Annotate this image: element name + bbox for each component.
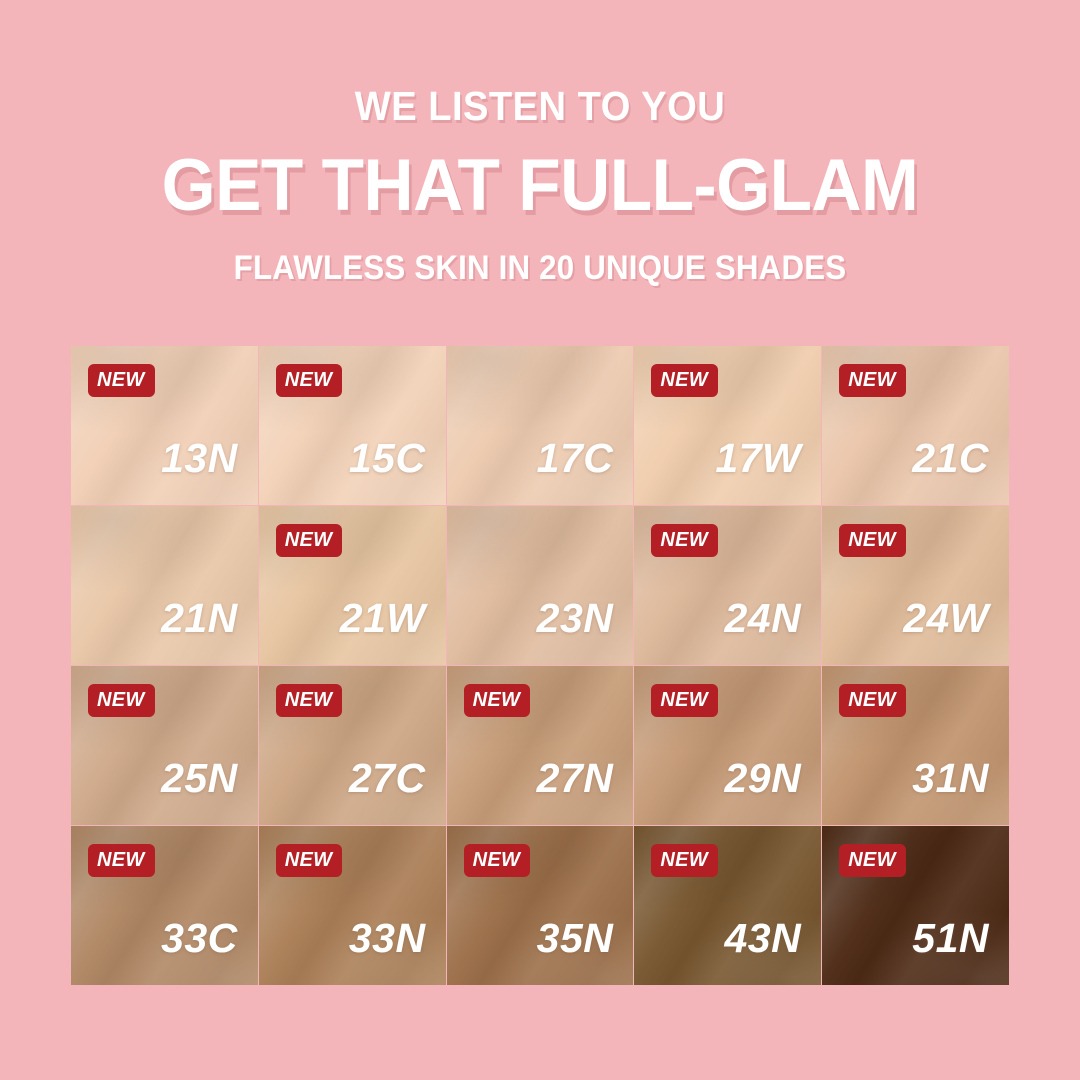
- shade-label: 24N: [724, 598, 801, 639]
- shade-swatch[interactable]: 23N: [447, 506, 634, 665]
- shade-swatch[interactable]: NEW29N: [634, 666, 821, 825]
- new-badge: NEW: [88, 844, 155, 877]
- new-badge: NEW: [276, 844, 343, 877]
- new-badge: NEW: [651, 844, 718, 877]
- shade-swatch[interactable]: NEW15C: [259, 346, 446, 505]
- shade-swatch[interactable]: NEW27C: [259, 666, 446, 825]
- new-badge: NEW: [839, 524, 906, 557]
- shade-label: 27C: [349, 758, 426, 799]
- shade-label: 33C: [161, 918, 238, 959]
- swatch-texture-overlay: [447, 346, 634, 505]
- header-subtitle: FLAWLESS SKIN IN 20 UNIQUE SHADES: [43, 251, 1037, 285]
- shade-swatch[interactable]: NEW31N: [822, 666, 1009, 825]
- shade-label: 21N: [161, 598, 238, 639]
- shade-swatch[interactable]: NEW24N: [634, 506, 821, 665]
- shade-label: 17C: [537, 438, 614, 479]
- shade-swatch[interactable]: NEW43N: [634, 826, 821, 985]
- shade-swatch[interactable]: NEW35N: [447, 826, 634, 985]
- new-badge: NEW: [276, 364, 343, 397]
- shade-swatch[interactable]: NEW25N: [71, 666, 258, 825]
- shade-label: 31N: [912, 758, 989, 799]
- new-badge: NEW: [88, 364, 155, 397]
- shade-label: 17W: [715, 438, 801, 479]
- swatch-shadow-overlay: [447, 506, 634, 665]
- shade-swatch[interactable]: NEW33C: [71, 826, 258, 985]
- shade-label: 35N: [537, 918, 614, 959]
- swatch-shadow-overlay: [71, 506, 258, 665]
- new-badge: NEW: [276, 684, 343, 717]
- shade-label: 33N: [349, 918, 426, 959]
- shade-label: 51N: [912, 918, 989, 959]
- shade-label: 21W: [340, 598, 426, 639]
- shade-label: 13N: [161, 438, 238, 479]
- shade-label: 43N: [724, 918, 801, 959]
- shade-swatch[interactable]: NEW17W: [634, 346, 821, 505]
- shade-swatch[interactable]: NEW33N: [259, 826, 446, 985]
- shade-swatch[interactable]: NEW21C: [822, 346, 1009, 505]
- shade-swatch[interactable]: NEW13N: [71, 346, 258, 505]
- page-title: GET THAT FULL-GLAM: [27, 149, 1053, 222]
- new-badge: NEW: [651, 364, 718, 397]
- header: WE LISTEN TO YOU GET THAT FULL-GLAM FLAW…: [0, 0, 1080, 285]
- swatch-texture-overlay: [447, 506, 634, 665]
- new-badge: NEW: [464, 684, 531, 717]
- shade-label: 15C: [349, 438, 426, 479]
- shade-swatch[interactable]: NEW27N: [447, 666, 634, 825]
- new-badge: NEW: [651, 684, 718, 717]
- new-badge: NEW: [839, 684, 906, 717]
- shade-label: 27N: [537, 758, 614, 799]
- shade-swatch[interactable]: NEW24W: [822, 506, 1009, 665]
- shade-swatch[interactable]: 17C: [447, 346, 634, 505]
- shade-swatch[interactable]: 21N: [71, 506, 258, 665]
- shade-grid: NEW13NNEW15C17CNEW17WNEW21C21NNEW21W23NN…: [71, 346, 1009, 985]
- shade-label: 24W: [903, 598, 989, 639]
- new-badge: NEW: [88, 684, 155, 717]
- shade-swatch[interactable]: NEW21W: [259, 506, 446, 665]
- header-eyebrow: WE LISTEN TO YOU: [38, 86, 1042, 127]
- shade-label: 23N: [537, 598, 614, 639]
- new-badge: NEW: [839, 844, 906, 877]
- shade-swatch[interactable]: NEW51N: [822, 826, 1009, 985]
- new-badge: NEW: [651, 524, 718, 557]
- shade-label: 25N: [161, 758, 238, 799]
- shade-label: 21C: [912, 438, 989, 479]
- new-badge: NEW: [839, 364, 906, 397]
- shade-label: 29N: [724, 758, 801, 799]
- swatch-shadow-overlay: [447, 346, 634, 505]
- new-badge: NEW: [276, 524, 343, 557]
- swatch-texture-overlay: [71, 506, 258, 665]
- new-badge: NEW: [464, 844, 531, 877]
